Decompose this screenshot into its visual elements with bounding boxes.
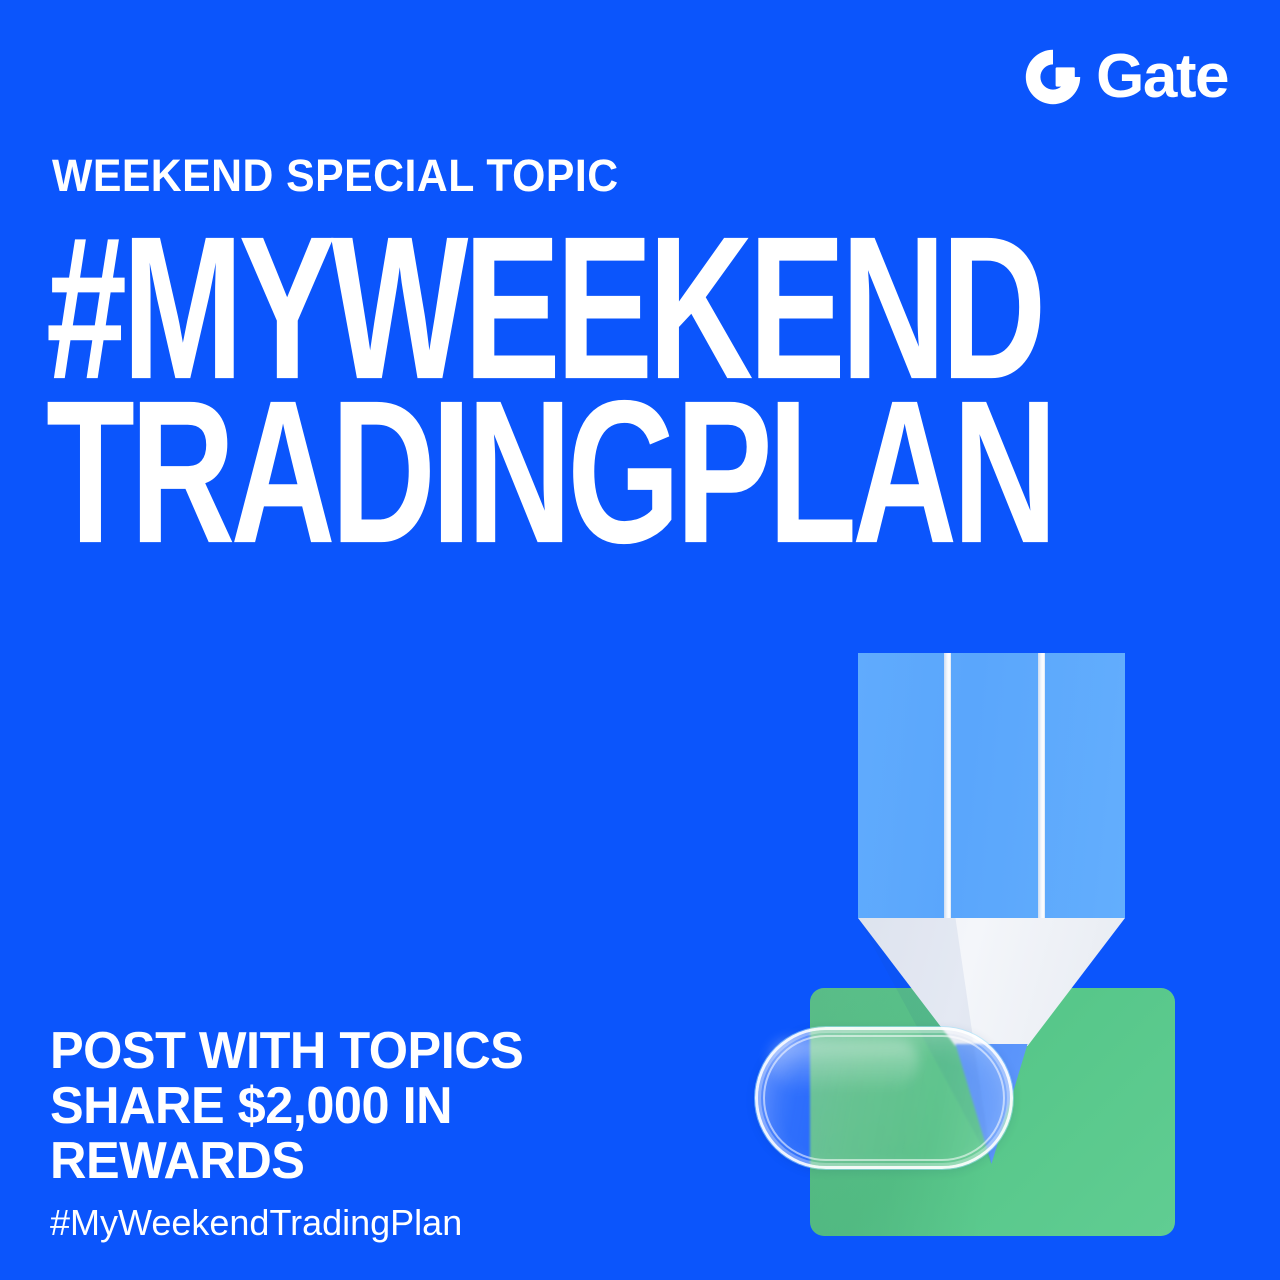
gate-g-logo-icon — [1024, 48, 1082, 106]
pencil-illustration — [735, 620, 1205, 1260]
pencil-groove-right-icon — [1038, 653, 1045, 918]
promo-line-3: REWARDS — [50, 1134, 651, 1189]
pencil-groove-left-icon — [944, 653, 951, 918]
glass-capsule-shape — [755, 1027, 1013, 1169]
promo-line-1: POST WITH TOPICS — [50, 1024, 651, 1079]
hashtag-label: #MyWeekendTradingPlan — [50, 1201, 462, 1245]
promo-poster: Gate WEEKEND SPECIAL TOPIC #MYWEEKEND TR… — [0, 0, 1280, 1280]
headline-line-2: TRADINGPLAN — [46, 382, 814, 561]
promo-copy-block: POST WITH TOPICS SHARE $2,000 IN REWARDS — [50, 1024, 670, 1189]
page-title: #MYWEEKEND TRADINGPLAN — [46, 218, 1006, 542]
pencil-body-shape — [858, 653, 1125, 918]
brand-wordmark: Gate — [1096, 48, 1228, 106]
brand-logo[interactable]: Gate — [1024, 44, 1228, 110]
promo-line-2: SHARE $2,000 IN — [50, 1079, 651, 1134]
